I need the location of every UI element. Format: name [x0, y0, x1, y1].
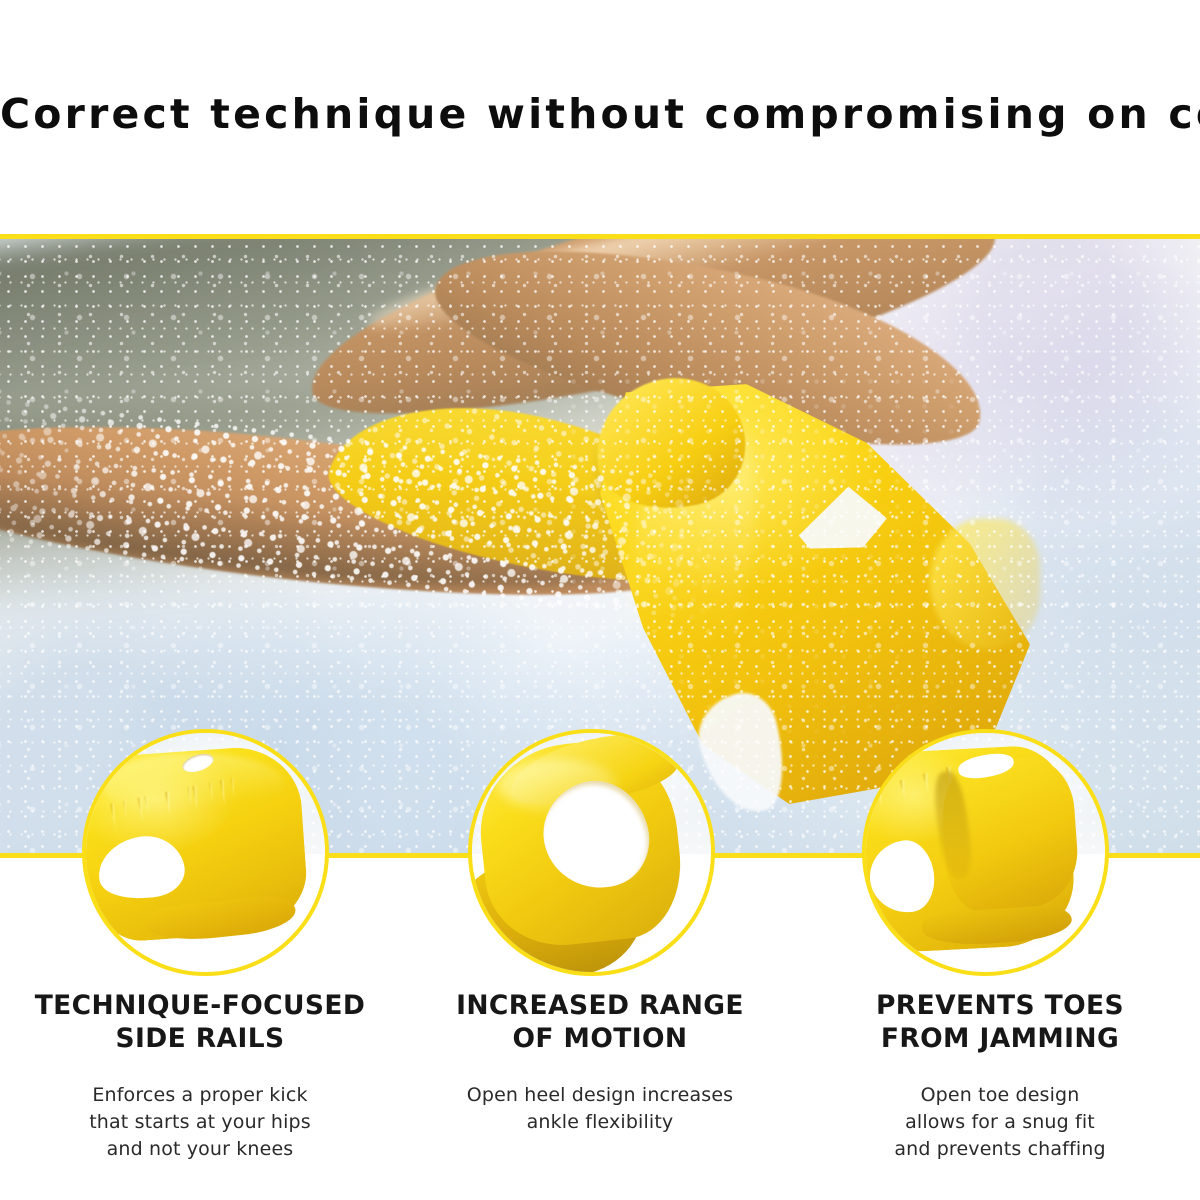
feature-title: PREVENTS TOES FROM JAMMING [876, 990, 1124, 1056]
feature-column-range-of-motion: INCREASED RANGE OF MOTION Open heel desi… [400, 990, 800, 1200]
feature-list: TECHNIQUE-FOCUSED SIDE RAILS Enforces a … [0, 990, 1200, 1200]
feature-icon-side-rails [82, 729, 329, 976]
product-feature-page: Correct technique without compromising o… [0, 0, 1200, 1200]
fin-open-toe-closeup-icon [866, 733, 1105, 972]
feature-icon-range-of-motion [468, 729, 715, 976]
fin-open-heel-closeup-icon [472, 733, 711, 972]
feature-description: Open heel design increases ankle flexibi… [467, 1082, 733, 1136]
fin-side-rail-closeup-icon [86, 733, 325, 972]
feature-title: TECHNIQUE-FOCUSED SIDE RAILS [35, 990, 366, 1056]
feature-column-open-toe: PREVENTS TOES FROM JAMMING Open toe desi… [800, 990, 1200, 1200]
feature-icon-open-toe [862, 729, 1109, 976]
feature-title: INCREASED RANGE OF MOTION [456, 990, 744, 1056]
page-headline: Correct technique without compromising o… [0, 92, 1200, 137]
feature-description: Enforces a proper kick that starts at yo… [89, 1082, 311, 1163]
feature-column-side-rails: TECHNIQUE-FOCUSED SIDE RAILS Enforces a … [0, 990, 400, 1200]
feature-description: Open toe design allows for a snug fit an… [894, 1082, 1105, 1163]
